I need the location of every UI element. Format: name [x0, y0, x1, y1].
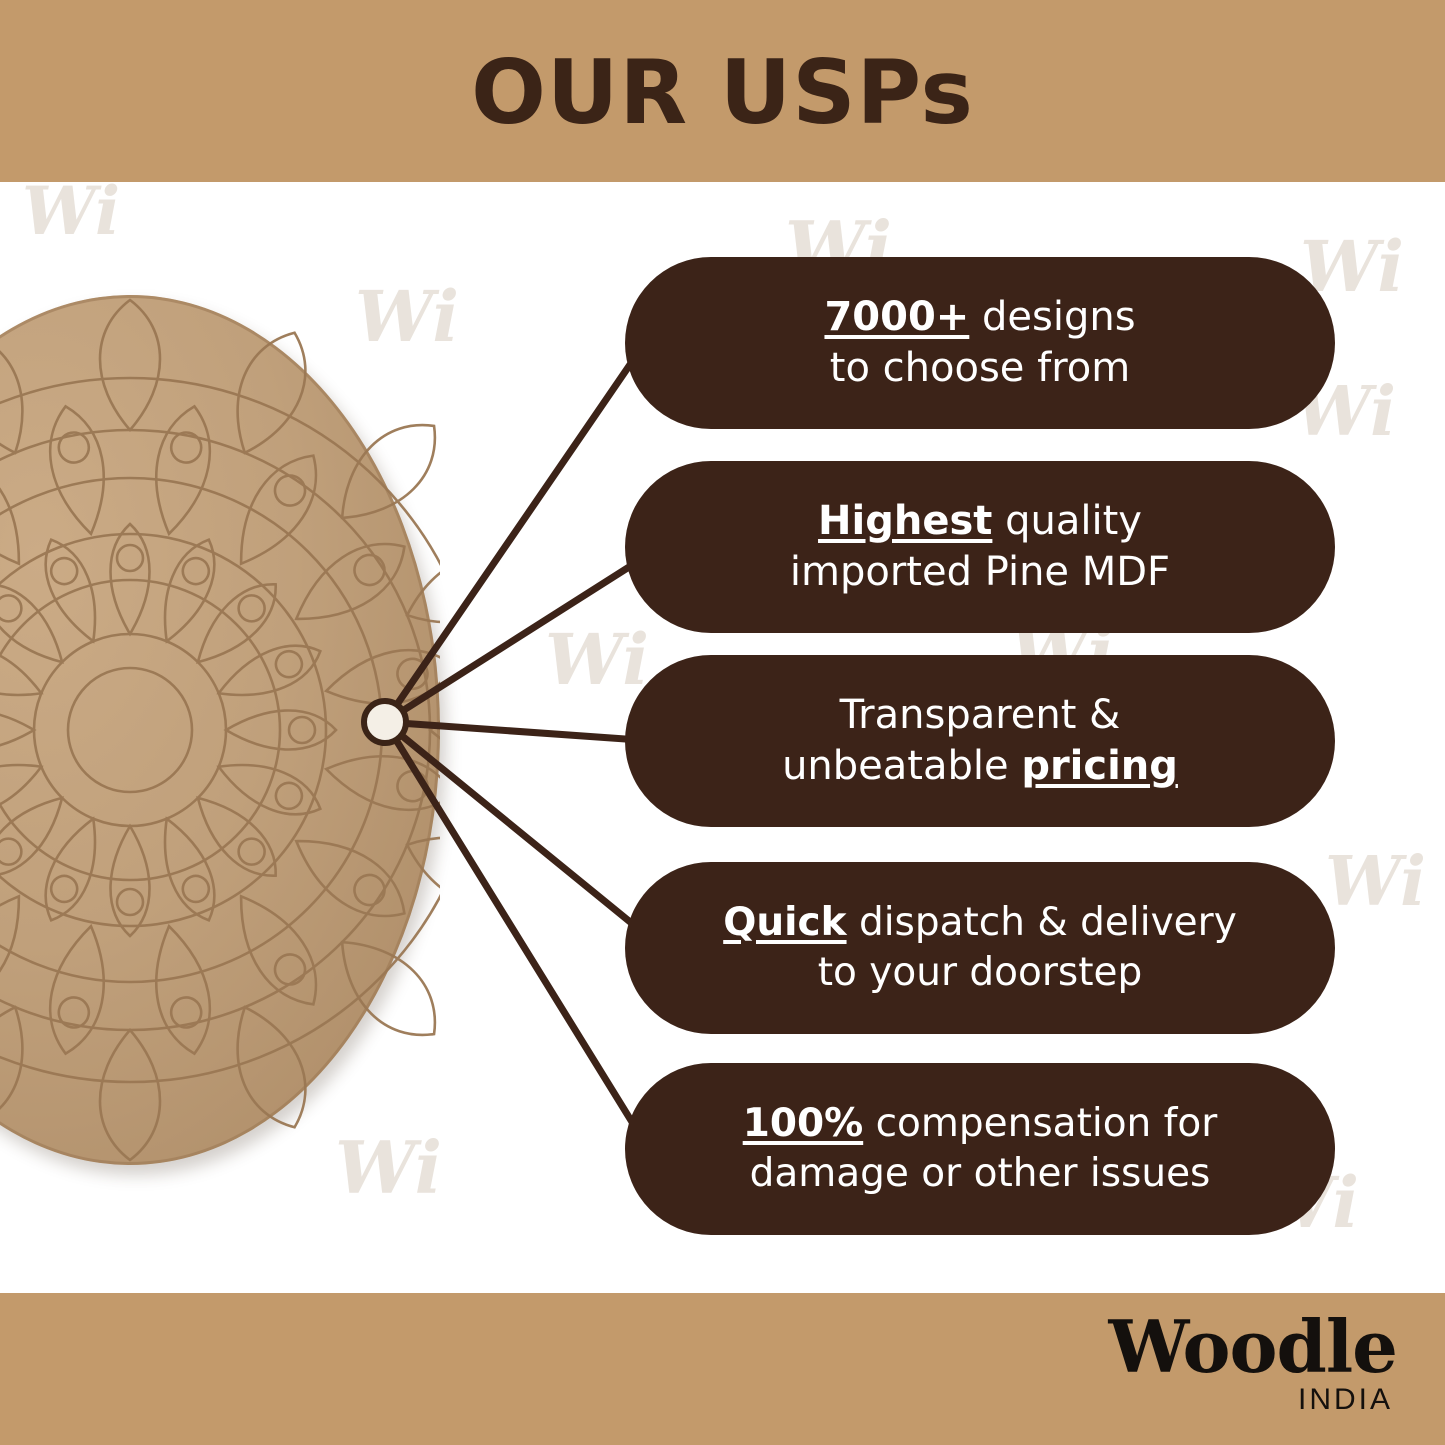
usp-line2: damage or other issues — [750, 1151, 1211, 1196]
usp-emphasis: Highest — [818, 498, 992, 544]
brand-name: Woodle — [1108, 1311, 1397, 1383]
usp-rest: designs — [969, 294, 1135, 340]
usp-line2: to your doorstep — [818, 950, 1143, 995]
diagram-hub-node — [361, 698, 409, 746]
usp-line2: to choose from — [830, 345, 1130, 391]
usp-line2-prefix: unbeatable — [782, 743, 1021, 789]
header-banner: OUR USPs — [0, 0, 1445, 182]
usp-pill-compensation[interactable]: 100% compensation for damage or other is… — [625, 1063, 1335, 1235]
usp-emphasis: 100% — [743, 1101, 864, 1146]
watermark-text: Wi — [1325, 848, 1426, 916]
usp-line1: Transparent & — [840, 692, 1121, 738]
usp-pill-designs[interactable]: 7000+ designs to choose from — [625, 257, 1335, 429]
brand-subtitle: INDIA — [1108, 1385, 1393, 1415]
usp-rest: quality — [992, 498, 1142, 544]
watermark-text: Wi — [22, 178, 120, 244]
usp-pill-text: Transparent & unbeatable pricing — [782, 690, 1178, 792]
watermark-text: Wi — [545, 625, 649, 695]
usp-rest: dispatch & delivery — [847, 900, 1237, 945]
usp-pill-text: Quick dispatch & delivery to your doorst… — [723, 898, 1237, 998]
usp-pill-pricing[interactable]: Transparent & unbeatable pricing — [625, 655, 1335, 827]
usp-emphasis: 7000+ — [824, 294, 969, 340]
infographic-page: Wi Wi Wi Wi Wi Wi Wi Wi Wi Wi Wi — [0, 0, 1445, 1445]
usp-pill-quality[interactable]: Highest quality imported Pine MDF — [625, 461, 1335, 633]
usp-emphasis: Quick — [723, 900, 846, 945]
usp-line2: imported Pine MDF — [790, 549, 1170, 595]
usp-rest: compensation for — [863, 1101, 1217, 1146]
usp-pill-text: 100% compensation for damage or other is… — [743, 1099, 1218, 1199]
usp-pill-dispatch[interactable]: Quick dispatch & delivery to your doorst… — [625, 862, 1335, 1034]
usp-pill-text: Highest quality imported Pine MDF — [790, 496, 1170, 598]
brand-logo: Woodle INDIA — [1108, 1311, 1397, 1415]
footer-banner: Woodle INDIA — [0, 1293, 1445, 1445]
usp-pill-text: 7000+ designs to choose from — [824, 292, 1135, 394]
usp-emphasis: pricing — [1021, 743, 1178, 789]
page-title: OUR USPs — [471, 49, 974, 137]
